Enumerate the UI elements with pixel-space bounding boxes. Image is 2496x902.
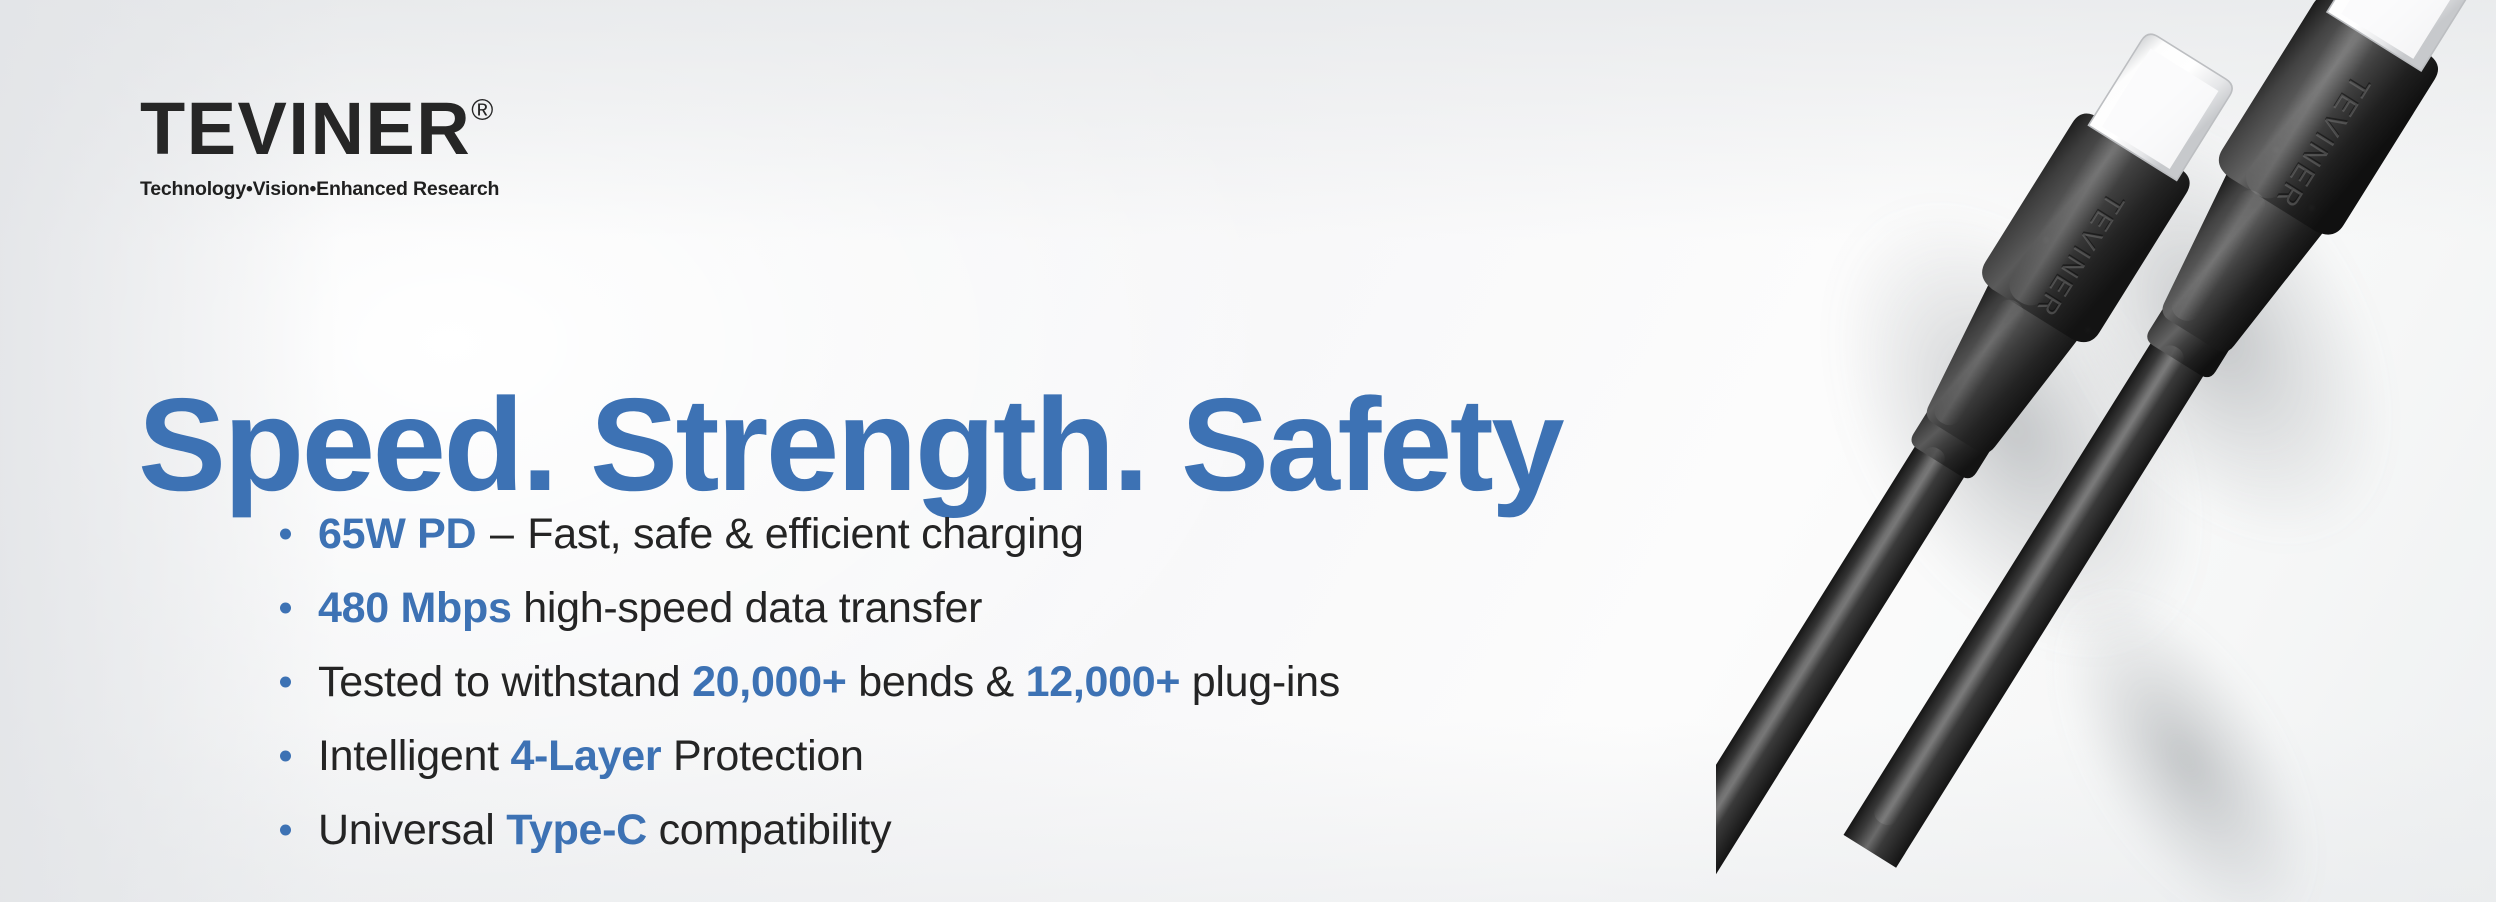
bullet-dot-icon (280, 751, 291, 762)
feature-text: bends & (858, 658, 1014, 706)
bullet-dot-icon (280, 825, 291, 836)
feature-text: compatibility (659, 806, 892, 854)
brand-wordmark-text: TEVINER (140, 87, 471, 170)
feature-text: Protection (673, 732, 864, 780)
feature-highlight: 12,000+ (1026, 658, 1181, 706)
feature-highlight: Type-C (506, 806, 647, 854)
usb-c-connector-back: TEVINER TEVINER (1808, 0, 2496, 888)
list-item: 65W PD – Fast, safe & efficient charging (272, 500, 1340, 568)
svg-text:TEVINER: TEVINER (2030, 188, 2130, 323)
connector-emboss-text-back: TEVINER (2268, 68, 2375, 213)
feature-text: Tested to withstand (318, 658, 680, 706)
housing-texture (2015, 109, 2314, 331)
registered-trademark-icon: ® (471, 94, 493, 127)
feature-text: plug-ins (1192, 658, 1340, 706)
bullet-dot-icon (280, 529, 291, 540)
product-image-usb-c-cable-pair: TEVINER TEVINER TE (1716, 0, 2496, 902)
bullet-dot-icon (280, 603, 291, 614)
page-title: Speed. Strength. Safety (138, 376, 1562, 513)
feature-highlight: 480 Mbps (318, 584, 512, 632)
bullet-dot-icon (280, 677, 291, 688)
product-banner: TEVINER® Technology•Vision•Enhanced Rese… (0, 0, 2496, 902)
usb-c-connector-front: TEVINER TEVINER (1716, 22, 2249, 902)
list-item: Tested to withstand 20,000+ bends & 12,0… (272, 648, 1340, 716)
feature-separator: – (488, 510, 516, 558)
feature-list: 65W PD – Fast, safe & efficient charging… (272, 500, 1340, 870)
brand-tagline: Technology•Vision•Enhanced Research (140, 178, 760, 201)
list-item: 480 Mbps high-speed data transfer (272, 574, 1340, 642)
feature-text: Fast, safe & efficient charging (527, 510, 1083, 558)
feature-text: high-speed data transfer (523, 584, 982, 632)
cable-shadow-group (1756, 57, 2459, 902)
feature-highlight: 20,000+ (692, 658, 847, 706)
brand-logo: TEVINER® Technology•Vision•Enhanced Rese… (140, 92, 760, 201)
feature-text: Intelligent (318, 732, 499, 780)
feature-highlight: 4-Layer (510, 732, 661, 780)
brand-wordmark: TEVINER® (140, 92, 760, 166)
list-item: Intelligent 4-Layer Protection (272, 722, 1340, 790)
connector-emboss-text-front: TEVINER (2030, 187, 2130, 322)
feature-text: Universal (318, 806, 495, 854)
list-item: Universal Type-C compatibility (272, 796, 1340, 864)
feature-highlight: 65W PD (318, 510, 476, 558)
svg-text:TEVINER: TEVINER (2268, 70, 2375, 215)
